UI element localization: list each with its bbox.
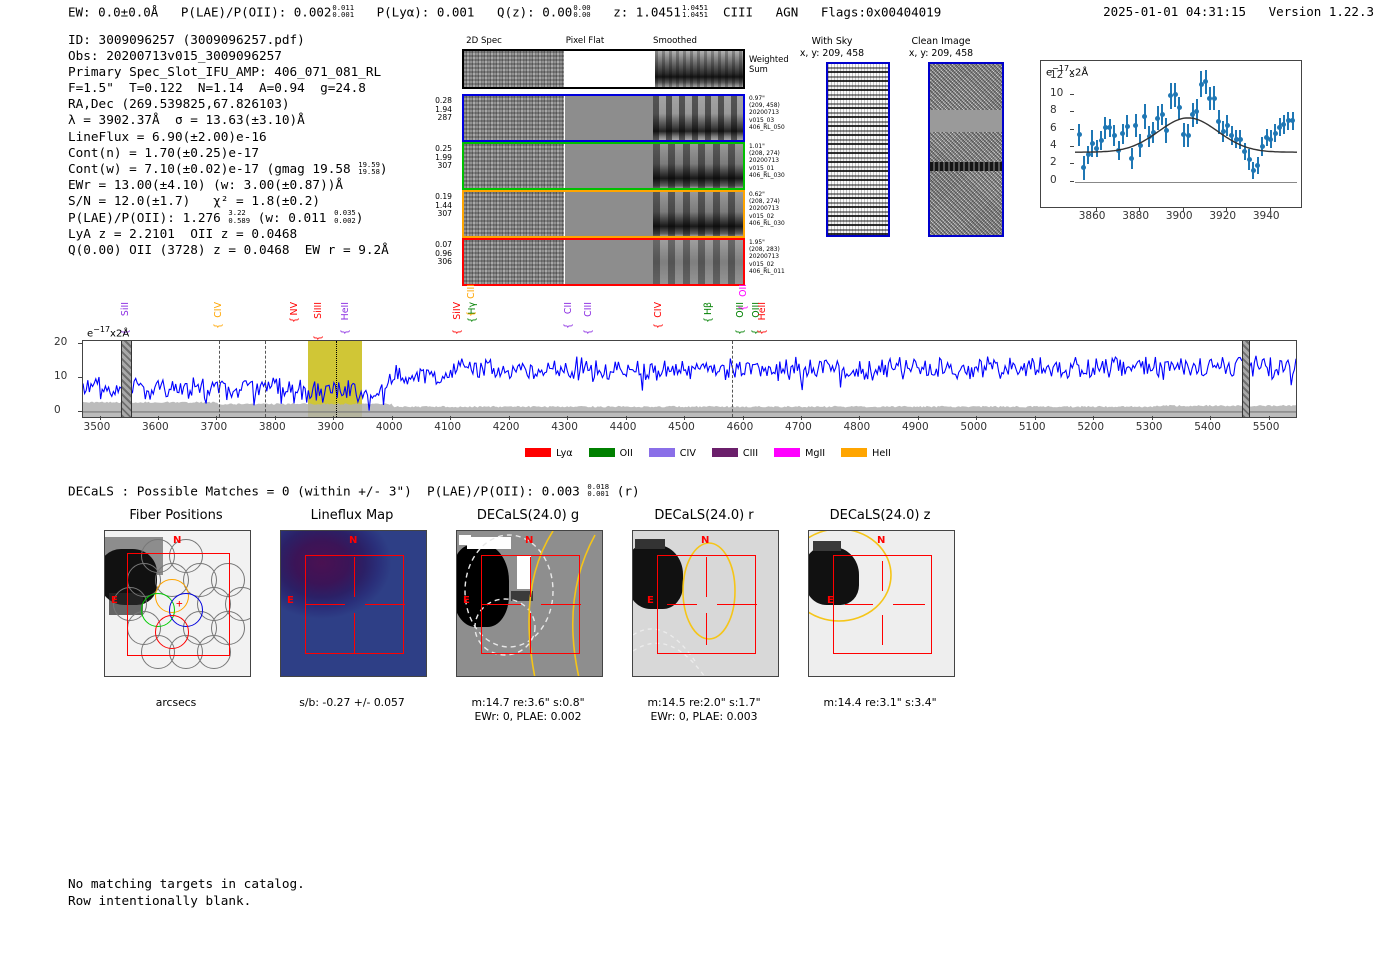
legend-label: OII — [620, 448, 633, 459]
decals-z-image[interactable]: N E — [808, 530, 955, 677]
fiber-positions-image[interactable]: N E + — [104, 530, 251, 677]
spectrum-dashed-marker — [265, 341, 266, 417]
with-sky-cutout-image — [826, 62, 890, 237]
spec2d-row-2-info: 0.62" (208, 274) 20200713 v015_02 406_RL… — [749, 192, 785, 228]
legend-label: MgII — [805, 448, 825, 459]
legend-label: CIII — [743, 448, 758, 459]
compass-e: E — [111, 595, 118, 606]
spectrum-xtick: 5500 — [1253, 421, 1280, 433]
info-primary-spec: Primary Spec_Slot_IFU_AMP: 406_071_081_R… — [68, 64, 381, 79]
spectrum-dotted-marker — [336, 341, 337, 417]
header-z-range: 1.04511.0451 — [682, 4, 708, 19]
line-fit-xtick: 3920 — [1209, 210, 1236, 222]
info-snr: S/N = 12.0(±1.7) χ² = 1.8(±0.2) — [68, 193, 320, 208]
decals-r-image[interactable]: N E — [632, 530, 779, 677]
footer-line-2: Row intentionally blank. — [68, 893, 251, 908]
legend-label: HeII — [872, 448, 891, 459]
info-lineflux: LineFlux = 6.90(±2.00)e-16 — [68, 129, 267, 144]
spectrum-line-label-cii: CII — [563, 302, 574, 314]
legend-label: Lyα — [556, 448, 572, 459]
spectrum-line-brace: { — [466, 311, 477, 317]
line-fit-datapoint — [1155, 116, 1160, 121]
line-fit-xtick: 3880 — [1122, 210, 1149, 222]
info-cont-n: Cont(n) = 1.70(±0.25)e-17 — [68, 145, 259, 160]
spectrum-dashed-marker — [732, 341, 733, 417]
header-flags: Flags:0x00404019 — [821, 4, 941, 19]
line-fit-datapoint — [1081, 165, 1086, 170]
spec2d-row-2-values: 0.191.44307 — [408, 193, 452, 219]
line-fit-ytick: 12 — [1050, 69, 1063, 81]
spec2d-row-1-info: 1.01" (208, 274) 20200713 v015_01 406_RL… — [749, 144, 785, 180]
line-fit-datapoint — [1120, 131, 1125, 136]
header-timestamp-version: 2025-01-01 04:31:15 Version 1.22.3 — [1103, 4, 1374, 19]
header-summary-line: EW: 0.0±0.0Å P(LAE)/P(OII): 0.0020.0110.… — [68, 4, 941, 19]
line-fit-datapoint — [1160, 112, 1165, 117]
weighted-sum-2dspec — [464, 51, 564, 87]
panel-decals-r-caption2: EWr: 0, PLAE: 0.003 — [574, 710, 834, 723]
line-fit-datapoint — [1221, 129, 1226, 134]
spectrum-line-brace: { — [340, 329, 351, 335]
spectrum-xtick: 3600 — [142, 421, 169, 433]
line-fit-datapoint — [1177, 105, 1182, 110]
info-qline: Q(0.00) OII (3728) z = 0.0468 EW r = 9.2… — [68, 242, 389, 257]
header-line-id: CIII — [723, 4, 753, 19]
line-fit-datapoint — [1147, 134, 1152, 139]
spectrum-xtick: 4900 — [902, 421, 929, 433]
spec2d-row-1 — [462, 142, 745, 190]
spectrum-line-brace: { — [289, 317, 300, 323]
line-fit-datapoint — [1094, 146, 1099, 151]
info-id: ID: 3009096257 (3009096257.pdf) — [68, 32, 305, 47]
info-obs: Obs: 20200713v015_3009096257 — [68, 48, 282, 63]
spec2d-col-title-smoothed: Smoothed — [635, 36, 715, 46]
line-fit-datapoint — [1090, 141, 1095, 146]
spectrum-line-label-oii: OII — [738, 284, 749, 297]
line-fit-datapoint — [1194, 109, 1199, 114]
line-fit-ytick: 6 — [1050, 122, 1057, 134]
clean-image-cutout — [928, 62, 1004, 237]
line-fit-datapoint — [1125, 124, 1130, 129]
info-wavelength: λ = 3902.37Å σ = 13.63(±3.10)Å — [68, 112, 305, 127]
legend-swatch — [589, 448, 615, 457]
line-fit-datapoint — [1268, 137, 1273, 142]
weighted-sum-pixelflat — [564, 51, 654, 87]
line-fit-datapoint — [1290, 118, 1295, 123]
compass-n: N — [173, 535, 181, 546]
line-fit-datapoint — [1225, 123, 1230, 128]
spectrum-xtick: 3700 — [200, 421, 227, 433]
line-fit-datapoint — [1099, 138, 1104, 143]
legend-swatch — [774, 448, 800, 457]
header-plae-poii: P(LAE)/P(OII): 0.002 — [181, 4, 332, 19]
compass-n: N — [877, 535, 885, 546]
header-ew: EW: 0.0±0.0Å — [68, 4, 158, 19]
panel-decals-z-title: DECaLS(24.0) z — [750, 508, 1010, 523]
spectrum-line-label-siiv: SiIV — [452, 302, 463, 320]
compass-e: E — [647, 595, 654, 606]
version: Version 1.22.3 — [1269, 4, 1374, 19]
spectrum-xtick: 5300 — [1136, 421, 1163, 433]
line-fit-datapoint — [1203, 79, 1208, 84]
line-fit-datapoint — [1077, 132, 1082, 137]
line-fit-datapoint — [1251, 168, 1256, 173]
line-fit-datapoint — [1164, 128, 1169, 133]
line-fit-datapoint — [1116, 148, 1121, 153]
spectrum-xtick: 4800 — [843, 421, 870, 433]
compass-e: E — [463, 595, 470, 606]
spectrum-units-annotation: e−17x2Å — [87, 325, 129, 339]
spectrum-line-brace: { — [703, 317, 714, 323]
spectrum-line-brace: { — [563, 323, 574, 329]
spectrum-xtick: 4400 — [610, 421, 637, 433]
line-fit-datapoint — [1173, 92, 1178, 97]
compass-e: E — [287, 595, 294, 606]
decals-g-image[interactable]: N E — [456, 530, 603, 677]
spectrum-legend: LyαOIICIVCIIIMgIIHeII — [0, 448, 1400, 459]
line-fit-datapoint — [1242, 149, 1247, 154]
spec2d-row-3-values: 0.070.96306 — [408, 241, 452, 267]
line-fit-datapoint — [1216, 119, 1221, 124]
spectrum-ytick: 0 — [54, 404, 61, 416]
line-fit-datapoint — [1255, 163, 1260, 168]
spectrum-line-label-nv: NV — [289, 302, 300, 315]
spectrum-masked-band — [121, 341, 132, 417]
spec2d-row-0-info: 0.97" (209, 458) 20200713 v015_03 406_RL… — [749, 96, 785, 132]
spectrum-line-label-siiii: SiIII — [313, 302, 324, 319]
legend-label: CIV — [680, 448, 696, 459]
spectrum-line-label-civ: CIV — [653, 302, 664, 318]
line-fit-xtick: 3940 — [1253, 210, 1280, 222]
panel-decals-z-caption1: m:14.4 re:3.1" s:3.4" — [750, 696, 1010, 709]
weighted-sum-smoothed — [655, 51, 743, 87]
compass-n: N — [349, 535, 357, 546]
object-info-block: ID: 3009096257 (3009096257.pdf) Obs: 202… — [68, 32, 389, 258]
line-fit-xtick: 3860 — [1079, 210, 1106, 222]
spectrum-xtick: 3900 — [317, 421, 344, 433]
spectrum-line-brace: { — [653, 323, 664, 329]
cutout-1-title: Clean Imagex, y: 209, 458 — [886, 36, 996, 60]
legend-swatch — [841, 448, 867, 457]
line-fit-datapoint — [1273, 131, 1278, 136]
info-ewr: EWr = 13.00(±4.10) (w: 3.00(±0.87))Å — [68, 177, 343, 192]
spectrum-line-label-siii: SiII — [120, 302, 131, 316]
line-fit-datapoint — [1107, 125, 1112, 130]
spectrum-ytick: 20 — [54, 336, 67, 348]
spectrum-xtick: 4500 — [668, 421, 695, 433]
spectrum-line-brace: { — [735, 329, 746, 335]
info-seeing: F=1.5" T=0.122 N=1.14 A=0.94 g=24.8 — [68, 80, 366, 95]
spectrum-xtick: 3500 — [84, 421, 111, 433]
line-fit-ytick: 8 — [1050, 104, 1057, 116]
spectrum-line-brace: { — [213, 323, 224, 329]
spectrum-line-label-ciii: CIII — [466, 284, 477, 299]
spectrum-line-label-civ: CIV — [213, 302, 224, 318]
spectrum-ytick: 10 — [54, 370, 67, 382]
line-fit-datapoint — [1260, 144, 1265, 149]
timestamp: 2025-01-01 04:31:15 — [1103, 4, 1246, 19]
legend-swatch — [525, 448, 551, 457]
footer-line-1: No matching targets in catalog. — [68, 876, 305, 891]
spectrum-xtick: 4200 — [493, 421, 520, 433]
line-fit-plot: e−17x2Å 024681012 38603880390039203940 — [1040, 60, 1302, 235]
footer-note: No matching targets in catalog. Row inte… — [68, 875, 305, 909]
spec2d-col-title-2dspec: 2D Spec — [444, 36, 524, 46]
line-fit-datapoint — [1212, 96, 1217, 101]
line-fit-axes: e−17x2Å — [1040, 60, 1302, 208]
cutout-0-title: With Skyx, y: 209, 458 — [777, 36, 887, 60]
line-fit-datapoint — [1086, 152, 1091, 157]
compass-e: E — [827, 595, 834, 606]
line-fit-zero-line — [1075, 182, 1297, 183]
legend-swatch — [712, 448, 738, 457]
spectrum-line-brace: { — [738, 305, 749, 311]
spectrum-line-brace: { — [583, 329, 594, 335]
spec2d-col-title-pixelflat: Pixel Flat — [545, 36, 625, 46]
spectrum-line-label-ciii: CIII — [583, 302, 594, 317]
spectrum-xtick: 4300 — [551, 421, 578, 433]
spec2d-weighted-sum-row — [462, 49, 745, 89]
spectrum-line-label-heii: HeII — [340, 302, 351, 320]
spec2d-row-0-values: 0.281.94287 — [408, 97, 452, 123]
info-redshifts: LyA z = 2.2101 OII z = 0.0468 — [68, 226, 297, 241]
line-fit-datapoint — [1186, 133, 1191, 138]
line-fit-ytick: 4 — [1050, 139, 1057, 151]
lineflux-map-image[interactable]: N E — [280, 530, 427, 677]
spectrum-line-brace: { — [467, 317, 478, 323]
spectrum-xtick: 4600 — [727, 421, 754, 433]
decals-summary-line: DECaLS : Possible Matches = 0 (within +/… — [68, 483, 640, 498]
line-fit-datapoint — [1142, 114, 1147, 119]
spectrum-xtick: 5100 — [1019, 421, 1046, 433]
spectrum-line-label-hβ: Hβ — [703, 302, 714, 315]
line-fit-datapoint — [1281, 122, 1286, 127]
line-fit-xtick: 3900 — [1166, 210, 1193, 222]
spectrum-masked-band — [1242, 341, 1251, 417]
spectrum-line-brace: { — [452, 329, 463, 335]
spectrum-line-label-heii: HeII — [757, 302, 768, 320]
line-fit-datapoint — [1238, 137, 1243, 142]
header-qz: Q(z): 0.00 — [497, 4, 572, 19]
header-qz-range: 0.000.00 — [573, 4, 590, 19]
line-fit-datapoint — [1151, 130, 1156, 135]
spec2d-row-2 — [462, 190, 745, 238]
info-cont-w: Cont(w) = 7.10(±0.02)e-17 (gmag 19.58 19… — [68, 161, 388, 176]
spectrum-xtick: 4700 — [785, 421, 812, 433]
line-fit-datapoint — [1112, 133, 1117, 138]
spectrum-xtick: 3800 — [259, 421, 286, 433]
header-z: z: 1.0451 — [613, 4, 681, 19]
line-fit-ytick: 0 — [1050, 174, 1057, 186]
spectrum-axes: e−17x2Å — [82, 340, 1297, 418]
line-fit-datapoint — [1247, 157, 1252, 162]
line-fit-datapoint — [1129, 156, 1134, 161]
compass-n: N — [701, 535, 709, 546]
line-fit-datapoint — [1133, 123, 1138, 128]
header-plya: P(Lyα): 0.001 — [377, 4, 475, 19]
info-plae: P(LAE)/P(OII): 1.276 3.220.589 (w: 0.011… — [68, 210, 363, 225]
spectrum-xtick: 4000 — [376, 421, 403, 433]
spectrum-xtick: 5200 — [1077, 421, 1104, 433]
spectrum-line-brace: { — [757, 329, 768, 335]
full-spectrum-plot: SiII{CIV{NV{SiIII{HeII{SiIV{Hγ{CIII{CII{… — [0, 270, 1400, 470]
header-classification: AGN — [776, 4, 799, 19]
spec2d-row-0 — [462, 94, 745, 142]
spectrum-xtick: 5000 — [960, 421, 987, 433]
spectrum-xtick: 5400 — [1194, 421, 1221, 433]
legend-swatch — [649, 448, 675, 457]
spectrum-xtick: 4100 — [434, 421, 461, 433]
spec2d-row-1-values: 0.251.99307 — [408, 145, 452, 171]
line-fit-datapoint — [1138, 143, 1143, 148]
info-radec: RA,Dec (269.539825,67.826103) — [68, 96, 290, 111]
compass-n: N — [525, 535, 533, 546]
line-fit-ytick: 10 — [1050, 87, 1063, 99]
header-plae-poii-range: 0.0110.001 — [332, 4, 354, 19]
line-fit-ytick: 2 — [1050, 156, 1057, 168]
spectrum-dashed-marker — [219, 341, 220, 417]
